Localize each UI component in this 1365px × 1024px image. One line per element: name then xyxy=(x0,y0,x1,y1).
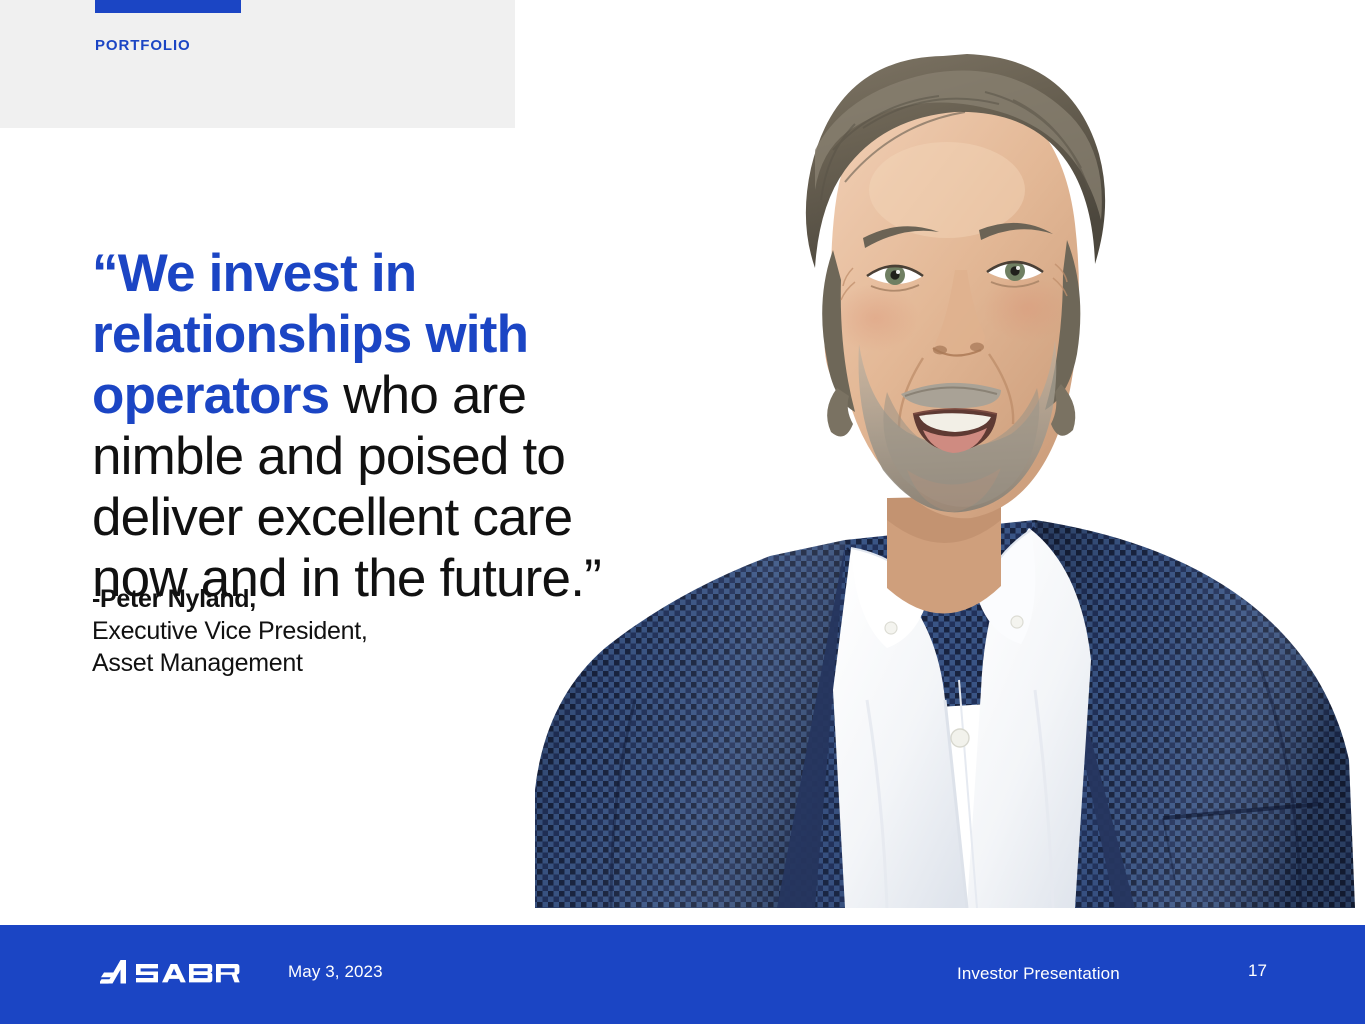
presentation-slide: PORTFOLIO xyxy=(0,0,1365,1024)
attribution-name: -Peter Nyland, xyxy=(92,583,612,615)
section-eyebrow-label: PORTFOLIO xyxy=(95,36,191,56)
quote-paragraph: “We invest in relationships with operato… xyxy=(92,243,652,609)
attribution-title-line1: Executive Vice President, xyxy=(92,615,612,647)
sabra-logo xyxy=(100,958,240,988)
quote-attribution: -Peter Nyland, Executive Vice President,… xyxy=(92,583,612,679)
footer-date: May 3, 2023 xyxy=(288,962,383,982)
footer-presentation-label: Investor Presentation xyxy=(957,964,1120,984)
attribution-title-line2: Asset Management xyxy=(92,647,612,679)
sabra-chevron-mark xyxy=(100,960,126,984)
accent-bar xyxy=(95,0,241,13)
footer-page-number: 17 xyxy=(1248,961,1267,981)
pull-quote: “We invest in relationships with operato… xyxy=(92,243,652,609)
